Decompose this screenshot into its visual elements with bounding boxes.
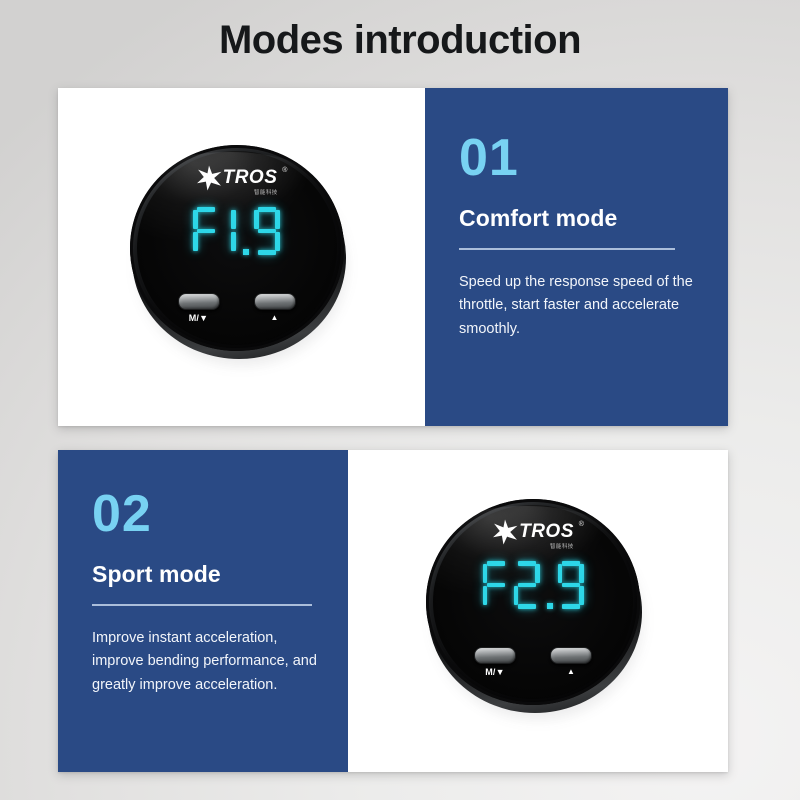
mode-title-01: Comfort mode: [459, 205, 698, 232]
led-digit-1: [223, 207, 237, 255]
mode-card-02: 02 Sport mode Improve instant accelerati…: [58, 450, 728, 772]
brand-logo: TROS ® 智能科技: [426, 521, 640, 545]
up-button[interactable]: [254, 293, 296, 310]
led-display-01: [130, 207, 344, 255]
device-top-face: TROS ® 智能科技: [426, 499, 640, 705]
registered-trademark-icon: ®: [579, 521, 584, 528]
led-digit-9: [557, 561, 585, 609]
mode-title-02: Sport mode: [92, 561, 318, 588]
mode-down-button-label: M/▼: [189, 314, 209, 323]
up-button-label: ▲: [567, 668, 575, 676]
star-x-icon: [196, 165, 222, 191]
brand-text-wrap: TROS ® 智能科技: [519, 522, 574, 541]
led-digit-2: [513, 561, 541, 609]
info-panel-01: 01 Comfort mode Speed up the response sp…: [425, 88, 728, 426]
led-decimal-point: [544, 561, 554, 609]
mode-description-02: Improve instant acceleration, improve be…: [92, 627, 318, 697]
led-decimal-point: [240, 207, 250, 255]
page-title: Modes introduction: [0, 18, 800, 63]
info-panel-02: 02 Sport mode Improve instant accelerati…: [58, 450, 348, 772]
up-button[interactable]: [550, 647, 592, 664]
mode-down-button[interactable]: [474, 647, 516, 664]
led-display-02: [426, 561, 640, 609]
device-panel-02: TROS ® 智能科技: [348, 450, 728, 772]
device-top-face: TROS ® 智能科技: [130, 145, 344, 351]
up-button-group[interactable]: ▲: [550, 647, 592, 677]
registered-trademark-icon: ®: [282, 167, 287, 174]
mode-number-02: 02: [92, 490, 318, 539]
mode-number-01: 01: [459, 134, 698, 183]
mode-down-button-group[interactable]: M/▼: [178, 293, 220, 323]
brand-text-wrap: TROS ® 智能科技: [223, 168, 278, 187]
mode-description-01: Speed up the response speed of the throt…: [459, 271, 694, 341]
divider-01: [459, 248, 675, 250]
up-button-label: ▲: [270, 314, 278, 322]
led-digit-f: [482, 561, 510, 609]
device-button-row-02: M/▼ ▲: [426, 647, 640, 677]
page-root: Modes introduction TROS ®: [0, 0, 800, 800]
mode-down-button-label: M/▼: [485, 668, 505, 677]
device-panel-01: TROS ® 智能科技: [58, 88, 425, 426]
divider-02: [92, 604, 312, 606]
led-digit-f: [192, 207, 220, 255]
throttle-controller-device-02[interactable]: TROS ® 智能科技: [422, 495, 654, 727]
brand-logo: TROS ® 智能科技: [130, 167, 344, 191]
brand-subtitle: 智能科技: [550, 541, 574, 549]
brand-name: TROS: [519, 522, 574, 541]
device-button-row-01: M/▼ ▲: [130, 293, 344, 323]
up-button-group[interactable]: ▲: [254, 293, 296, 323]
mode-card-01: TROS ® 智能科技: [58, 88, 728, 426]
brand-name: TROS: [223, 168, 278, 187]
mode-down-button[interactable]: [178, 293, 220, 310]
brand-subtitle: 智能科技: [254, 187, 278, 195]
led-digit-9: [253, 207, 281, 255]
star-x-icon: [492, 519, 518, 545]
mode-down-button-group[interactable]: M/▼: [474, 647, 516, 677]
throttle-controller-device-01[interactable]: TROS ® 智能科技: [126, 141, 358, 373]
